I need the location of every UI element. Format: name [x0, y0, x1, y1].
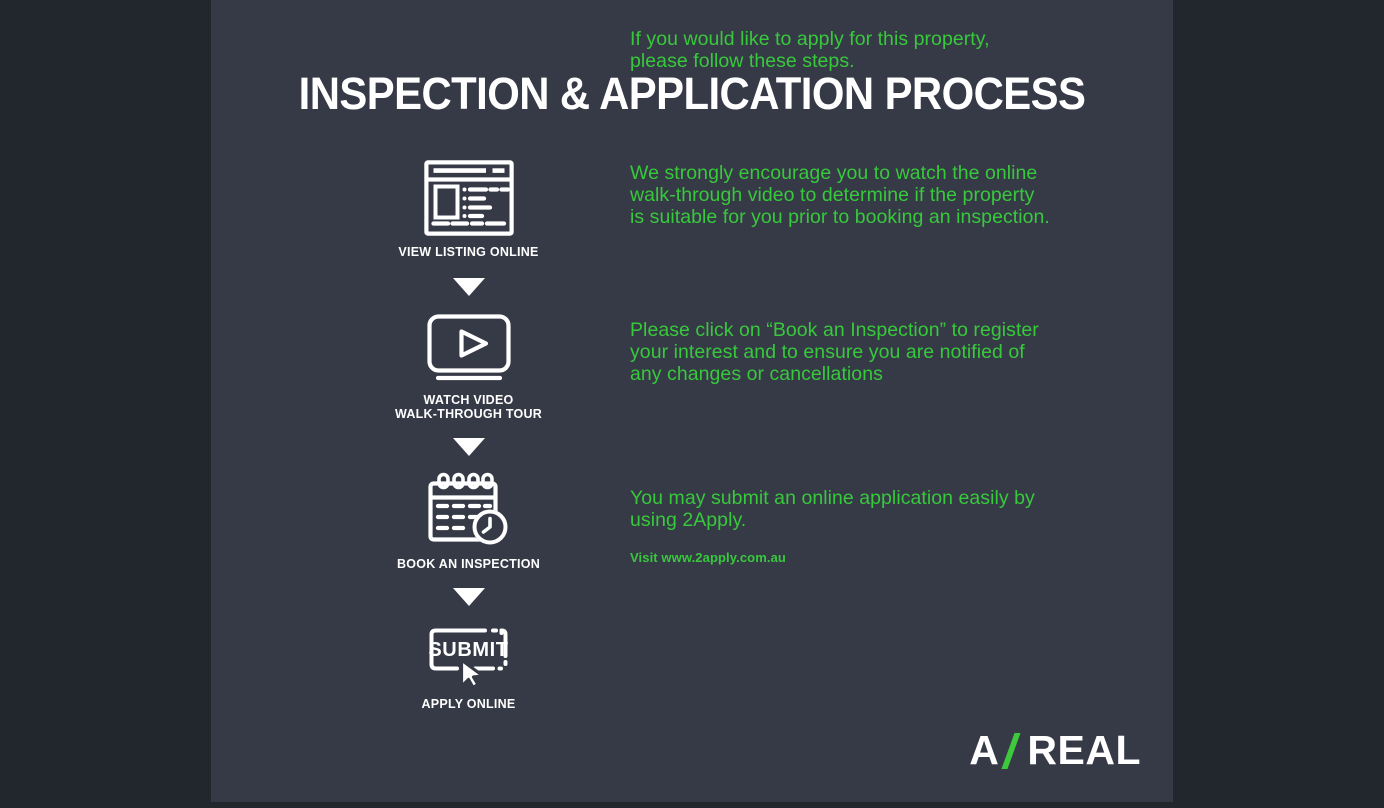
step-view-listing-online[interactable]: VIEW LISTING ONLINE: [371, 160, 566, 260]
arrow-down-icon: [371, 588, 566, 606]
logo-text-real: REAL: [1027, 727, 1141, 774]
video-play-icon: [424, 314, 514, 384]
logo-text-a: A: [969, 727, 999, 774]
copy-block-apply-online: You may submit an online application eas…: [630, 487, 1035, 531]
arrow-down-icon: [371, 278, 566, 296]
browser-listing-icon: [424, 160, 514, 236]
step-label: VIEW LISTING ONLINE: [398, 245, 538, 260]
arrow-down-icon: [371, 438, 566, 456]
step-apply-online[interactable]: SUBMIT APPLY ONLINE: [371, 622, 566, 712]
page-title: INSPECTION & APPLICATION PROCESS: [245, 68, 1140, 120]
copy-block-book-inspection: Please click on “Book an Inspection” to …: [630, 319, 1039, 386]
submit-button-cursor-icon: SUBMIT: [423, 622, 515, 688]
process-step-list: VIEW LISTING ONLINE WATCH VIDEO WALK-THR: [371, 160, 566, 712]
step-label: BOOK AN INSPECTION: [397, 557, 540, 572]
green-slash-icon: [1000, 731, 1026, 771]
copy-block-view-listing: If you would like to apply for this prop…: [630, 28, 990, 72]
areal-logo: A REAL: [969, 727, 1141, 774]
svg-text:SUBMIT: SUBMIT: [428, 639, 508, 661]
step-book-an-inspection[interactable]: BOOK AN INSPECTION: [371, 472, 566, 572]
visit-2apply-link[interactable]: Visit www.2apply.com.au: [630, 550, 786, 565]
step-label: WATCH VIDEO WALK-THROUGH TOUR: [395, 393, 542, 422]
poster-canvas: INSPECTION & APPLICATION PROCESS: [0, 0, 1384, 808]
step-label: APPLY ONLINE: [422, 697, 516, 712]
step-watch-video-walkthrough[interactable]: WATCH VIDEO WALK-THROUGH TOUR: [371, 314, 566, 422]
calendar-clock-icon: [426, 472, 512, 548]
content-card: INSPECTION & APPLICATION PROCESS: [211, 0, 1173, 802]
copy-block-watch-video: We strongly encourage you to watch the o…: [630, 162, 1050, 229]
